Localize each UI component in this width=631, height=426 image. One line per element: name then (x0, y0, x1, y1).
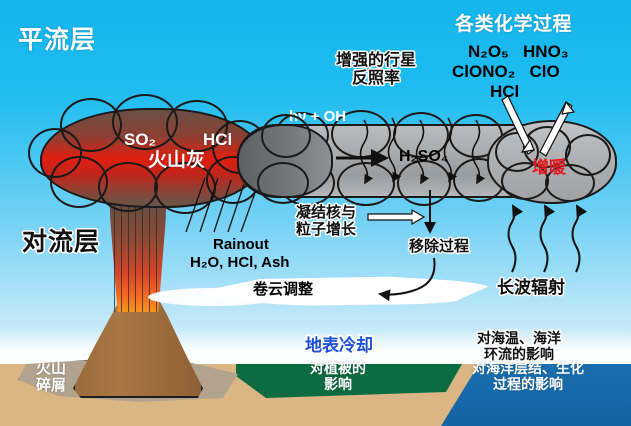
surface-cooling-label: 地表冷却 (305, 336, 373, 356)
rainout-label: Rainout (213, 236, 269, 253)
removal-process-label: 移除过程 (409, 238, 469, 255)
volcano-climate-diagram: 平流层 对流层 各类化学过程 N₂O₅ HNO₃ ClONO₂ ClO HCl … (0, 0, 631, 426)
vegetation-effect-label: 对植被的 影响 (310, 360, 366, 392)
so2-plume-segment (237, 124, 333, 198)
chemical-species-line-1: N₂O₅ HNO₃ (468, 42, 569, 62)
cirrus-cloud (200, 276, 496, 306)
ocean-effect-label: 对海洋层结、生化 过程的影响 (472, 360, 584, 392)
chemical-species-line-3: HCl (490, 82, 519, 102)
plume-h2so4-label: H₂SO₄ (399, 148, 448, 166)
volcanic-ash-label: 火山灰 (148, 150, 205, 172)
ash-cloud-hcl-label: HCl (203, 130, 232, 150)
nuclei-growth-arrow (368, 210, 424, 224)
rainout-species-label: H₂O, HCl, Ash (190, 254, 289, 271)
troposphere-label: 对流层 (22, 228, 100, 257)
chemistry-section-title: 各类化学过程 (455, 14, 572, 36)
cirrus-adjustment-label: 卷云调整 (253, 281, 313, 298)
longwave-squiggles (509, 206, 580, 272)
stratosphere-label: 平流层 (18, 26, 96, 55)
longwave-radiation-label: 长波辐射 (497, 278, 565, 298)
enhanced-planetary-albedo-label: 增强的行星 反照率 (336, 52, 416, 89)
volcanic-debris-label: 火山 碎屑 (36, 360, 66, 395)
ash-cloud-so2-label: SO₂ (124, 130, 156, 150)
sst-circulation-effect-label: 对海温、海洋 环流的影响 (477, 330, 561, 362)
condensation-nuclei-label: 凝结核与 粒子增长 (296, 204, 356, 239)
chemical-species-line-2: ClONO₂ ClO (452, 62, 560, 82)
warming-label: 增暖 (532, 158, 566, 178)
